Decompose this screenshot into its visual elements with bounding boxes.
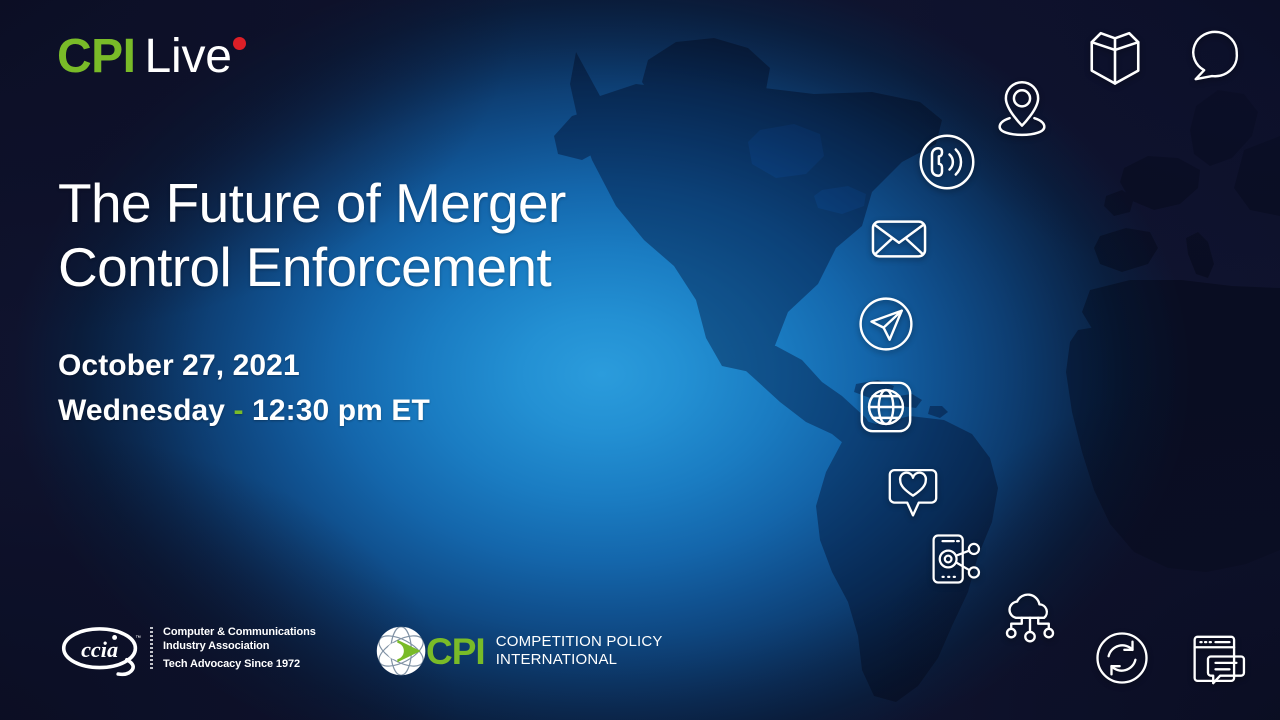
ccia-name: Computer & Communications Industry Assoc…: [163, 626, 316, 653]
event-date: October 27, 2021: [58, 346, 430, 385]
event-datetime: October 27, 2021 Wednesday - 12:30 pm ET: [58, 346, 430, 430]
open-box-icon: [1084, 28, 1146, 90]
cpi-international-name: COMPETITION POLICY INTERNATIONAL: [496, 633, 663, 668]
envelope-icon: [868, 215, 930, 263]
cpi-live-logo: CPILive: [57, 33, 232, 81]
page-title-line2: Control Enforcement: [58, 235, 738, 299]
cpi-live-logo-live: Live: [145, 30, 232, 83]
chat-bubble-icon: [1186, 26, 1244, 84]
event-weekday: Wednesday: [58, 394, 225, 427]
browser-chat-icon: [1190, 632, 1248, 688]
cpi-international-name-line2: INTERNATIONAL: [496, 651, 663, 669]
ccia-name-line2: Industry Association: [163, 640, 316, 654]
svg-text:™: ™: [135, 636, 141, 642]
event-separator: -: [234, 394, 244, 427]
page-title-line1: The Future of Merger: [58, 172, 566, 234]
globe-icon: [857, 378, 915, 436]
red-dot-icon: [233, 37, 246, 50]
webinar-banner: CPILive The Future of Merger Control Enf…: [0, 0, 1280, 720]
send-plane-icon: [857, 295, 915, 353]
event-time: 12:30 pm ET: [252, 394, 430, 427]
event-time-line: Wednesday - 12:30 pm ET: [58, 391, 430, 430]
ccia-mark-icon: ccia ™: [58, 621, 144, 677]
ccia-logo: ccia ™ Computer & Communications Industr…: [58, 621, 316, 677]
cpi-live-logo-cpi: CPI: [57, 30, 136, 83]
ccia-divider: [150, 627, 153, 671]
cpi-globe-icon: [374, 623, 430, 679]
mobile-share-icon: [928, 530, 984, 588]
cpi-international-name-line1: COMPETITION POLICY: [496, 633, 663, 651]
cpi-international-acronym: CPI: [426, 633, 485, 670]
svg-text:ccia: ccia: [81, 637, 118, 662]
cpi-international-logo: CPI COMPETITION POLICY INTERNATIONAL: [374, 623, 663, 679]
ccia-tagline: Tech Advocacy Since 1972: [163, 658, 316, 672]
cloud-network-icon: [1000, 592, 1060, 646]
page-title: The Future of Merger Control Enforcement: [58, 171, 738, 300]
ccia-text-block: Computer & Communications Industry Assoc…: [163, 626, 316, 672]
location-pin-icon: [992, 76, 1052, 138]
heart-bubble-icon: [885, 462, 941, 520]
sync-refresh-icon: [1094, 630, 1150, 686]
phone-call-icon: [917, 132, 977, 192]
ccia-name-line1: Computer & Communications: [163, 626, 316, 640]
